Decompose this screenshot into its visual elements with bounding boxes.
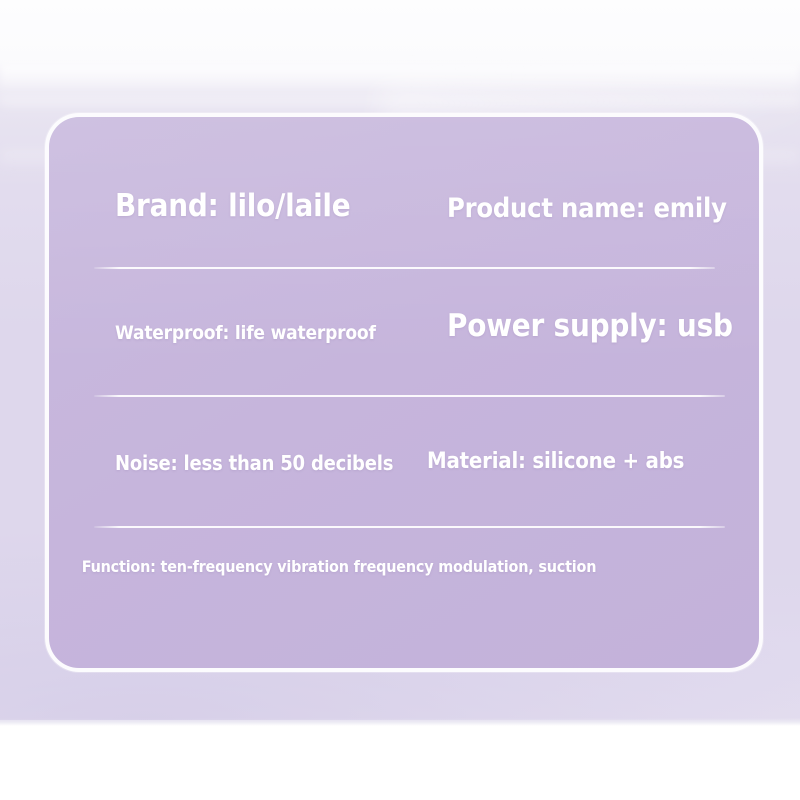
spec-card-content: Brand: lilo/laile Product name: emily Wa… [49, 117, 759, 668]
spec-brand: Brand: lilo/laile [115, 189, 351, 223]
spec-function: Function: ten-frequency vibration freque… [69, 557, 609, 577]
spec-divider-3 [94, 526, 725, 528]
spec-noise: Noise: less than 50 decibels [115, 452, 393, 475]
spec-card: Brand: lilo/laile Product name: emily Wa… [45, 113, 763, 672]
spec-waterproof: Waterproof: life waterproof [115, 322, 376, 344]
spec-divider-2 [94, 395, 725, 397]
product-spec-image: Brand: lilo/laile Product name: emily Wa… [0, 0, 800, 800]
spec-divider-1 [94, 267, 715, 269]
spec-material: Material: silicone + abs [427, 449, 684, 474]
spec-product-name: Product name: emily [447, 194, 727, 224]
spec-power-supply: Power supply: usb [447, 309, 733, 343]
